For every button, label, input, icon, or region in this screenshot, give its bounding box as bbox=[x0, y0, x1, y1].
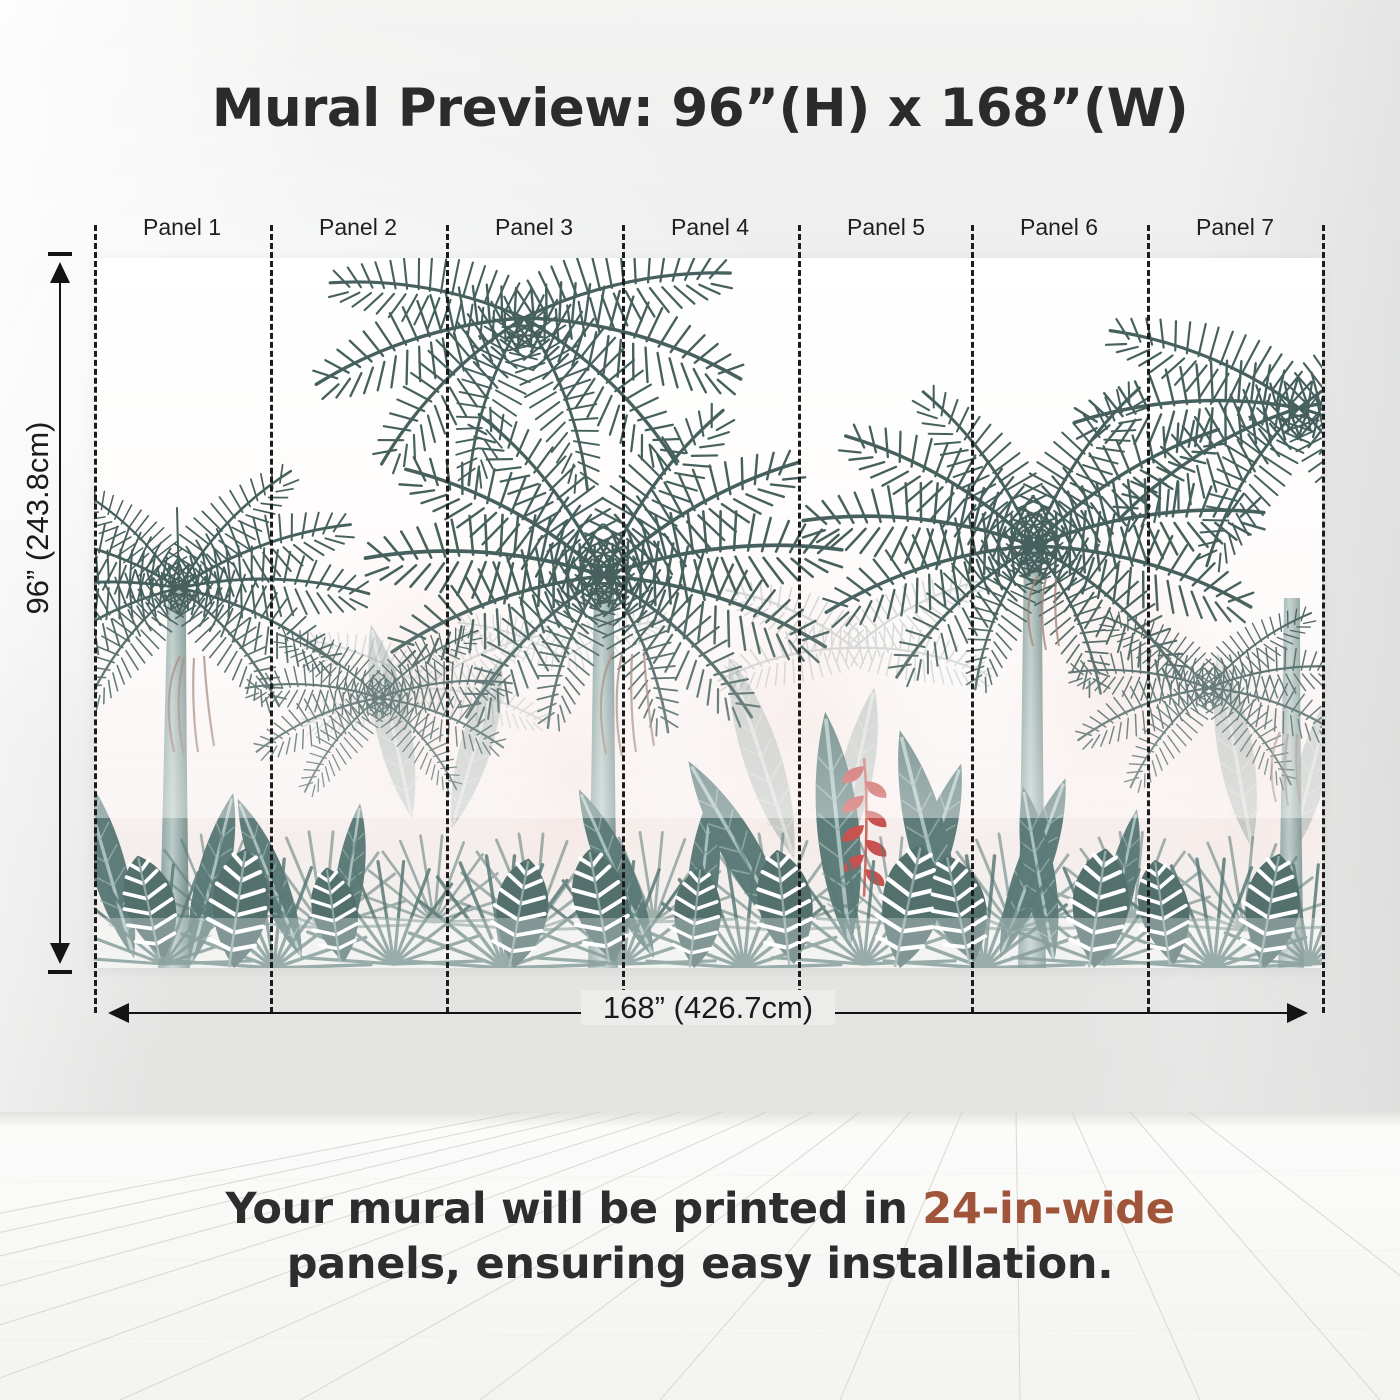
panel-divider-7 bbox=[1322, 225, 1325, 1013]
width-label: 168” (426.7cm) bbox=[581, 990, 835, 1025]
panel-divider-5 bbox=[971, 225, 974, 1013]
height-label: 96” (243.8cm) bbox=[20, 308, 56, 728]
panel-divider-3 bbox=[622, 225, 625, 1013]
page-title: Mural Preview: 96”(H) x 168”(W) bbox=[0, 78, 1400, 139]
panel-divider-1 bbox=[270, 225, 273, 1013]
panel-label-3: Panel 3 bbox=[446, 214, 622, 241]
panel-label-6: Panel 6 bbox=[971, 214, 1147, 241]
width-label-wrap: 168” (426.7cm) bbox=[100, 990, 1316, 1026]
caption-accent: 24-in-wide bbox=[922, 1184, 1174, 1234]
panel-divider-0 bbox=[94, 225, 97, 1013]
panel-divider-6 bbox=[1147, 225, 1150, 1013]
floor-wall-join-shadow bbox=[0, 1112, 1400, 1128]
height-cap-top bbox=[48, 252, 72, 256]
panel-label-2: Panel 2 bbox=[270, 214, 446, 241]
panel-label-4: Panel 4 bbox=[622, 214, 798, 241]
caption-line1-prefix: Your mural will be printed in bbox=[225, 1184, 922, 1234]
width-dimension-arrow: 168” (426.7cm) bbox=[100, 1000, 1316, 1028]
panel-divider-2 bbox=[446, 225, 449, 1013]
caption-line2: panels, ensuring easy installation. bbox=[0, 1237, 1400, 1292]
height-dimension-line bbox=[59, 266, 61, 960]
panel-label-5: Panel 5 bbox=[798, 214, 974, 241]
panel-label-1: Panel 1 bbox=[94, 214, 270, 241]
panel-divider-4 bbox=[798, 225, 801, 1013]
height-cap-bottom bbox=[48, 970, 72, 974]
panel-label-7: Panel 7 bbox=[1147, 214, 1323, 241]
height-arrowhead-bottom bbox=[50, 943, 70, 964]
footer-caption: Your mural will be printed in 24-in-wide… bbox=[0, 1182, 1400, 1292]
mural-preview-scene: Mural Preview: 96”(H) x 168”(W) bbox=[0, 0, 1400, 1400]
mural-artwork bbox=[94, 258, 1322, 968]
